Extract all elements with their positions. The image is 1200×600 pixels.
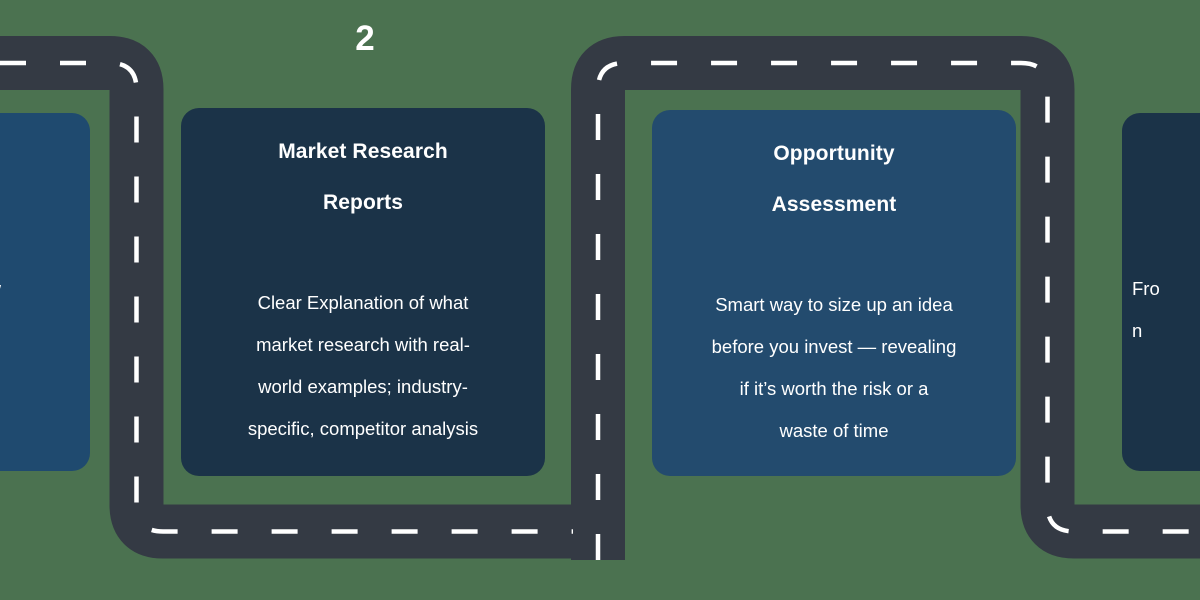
info-card-3-title: Opportunity Assessment bbox=[652, 128, 1016, 230]
step-number: 2 bbox=[330, 18, 400, 60]
info-card-market-research-reports[interactable]: Market Research Reports Clear Explanatio… bbox=[181, 108, 545, 476]
info-card-2-body: Clear Explanation of what market researc… bbox=[181, 282, 545, 450]
info-card-opportunity-assessment[interactable]: Opportunity Assessment Smart way to size… bbox=[652, 110, 1016, 476]
info-card-1-body: now iple bbox=[0, 268, 90, 352]
info-card-2-title: Market Research Reports bbox=[181, 126, 545, 228]
road-path-graphic bbox=[0, 0, 1200, 600]
info-card-4-body: Fro n bbox=[1122, 268, 1200, 352]
info-card-3-body: Smart way to size up an idea before you … bbox=[652, 284, 1016, 452]
info-card-4[interactable]: Fro n bbox=[1122, 113, 1200, 471]
info-card-1[interactable]: now iple bbox=[0, 113, 90, 471]
infographic-canvas: 2 now iple Market Research Reports Clear… bbox=[0, 0, 1200, 600]
